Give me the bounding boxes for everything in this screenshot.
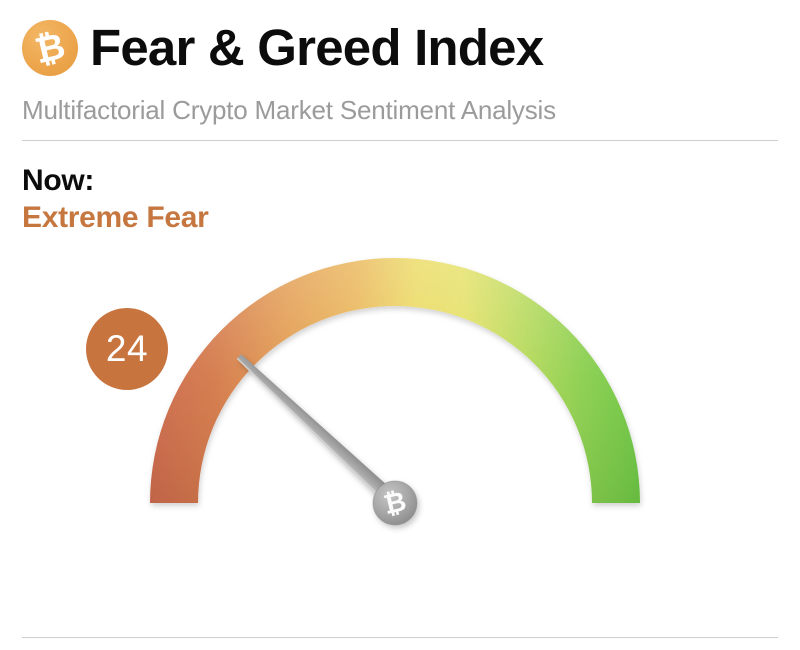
- header: ₿ Fear & Greed Index: [22, 18, 778, 78]
- status-value: Extreme Fear: [22, 200, 209, 237]
- fear-greed-index-page: ₿ Fear & Greed Index Multifactorial Cryp…: [0, 0, 800, 650]
- svg-text:₿: ₿: [31, 25, 69, 72]
- gauge-value-text: 24: [106, 330, 148, 369]
- page-title: Fear & Greed Index: [90, 22, 543, 75]
- bitcoin-icon: ₿: [22, 20, 78, 76]
- status-label: Now:: [22, 163, 209, 200]
- current-status: Now: Extreme Fear: [22, 163, 209, 236]
- gauge-arc: [150, 258, 640, 503]
- gauge-hub-bitcoin-icon: ₿: [373, 481, 417, 525]
- gauge-value-badge: 24: [86, 308, 168, 390]
- gauge-needle: [234, 351, 401, 509]
- footer-divider: [22, 637, 778, 638]
- header-divider: [22, 140, 778, 141]
- gauge-chart: ₿: [0, 240, 800, 630]
- page-subtitle: Multifactorial Crypto Market Sentiment A…: [22, 95, 556, 126]
